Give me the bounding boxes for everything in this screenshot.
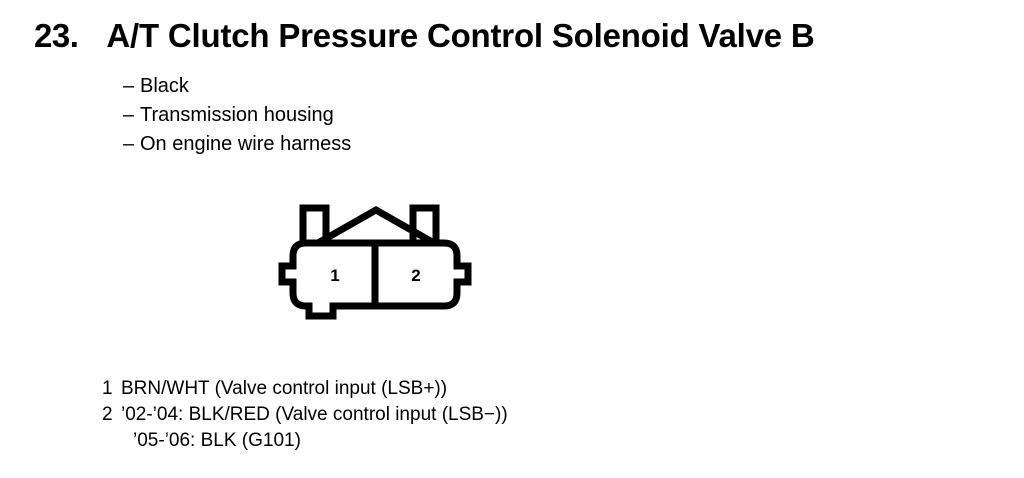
legend-pin-number: 1 [102,376,121,402]
attribute-location: Transmission housing [140,101,334,130]
list-item: – Transmission housing [123,101,351,130]
pin-legend-list: 1 BRN/WHT (Valve control input (LSB+)) 2… [102,376,508,454]
legend-row: 1 BRN/WHT (Valve control input (LSB+)) [102,376,508,402]
en-dash-bullet-icon: – [123,101,140,130]
connector-top-tab-left [303,208,326,244]
legend-pin-description-alt: ’05-’06: BLK (G101) [121,428,508,454]
legend-row: 2 ’02-’04: BLK/RED (Valve control input … [102,402,508,454]
attribute-color: Black [140,72,189,101]
connector-diagram: 1 2 [276,196,486,331]
connector-roof-rib [318,210,434,243]
page-title: A/T Clutch Pressure Control Solenoid Val… [106,19,814,52]
legend-text-column: ’02-’04: BLK/RED (Valve control input (L… [121,402,508,454]
list-item: – Black [123,72,351,101]
legend-text-column: BRN/WHT (Valve control input (LSB+)) [121,376,447,402]
attribute-harness: On engine wire harness [140,130,351,159]
cavity-label-1: 1 [330,266,339,285]
page-root: 23. A/T Clutch Pressure Control Solenoid… [0,0,1024,478]
legend-pin-description: BRN/WHT (Valve control input (LSB+)) [121,376,447,402]
en-dash-bullet-icon: – [123,130,140,159]
legend-pin-description: ’02-’04: BLK/RED (Valve control input (L… [121,402,508,428]
list-item: – On engine wire harness [123,130,351,159]
connector-attribute-list: – Black – Transmission housing – On engi… [123,72,351,159]
cavity-label-2: 2 [411,266,420,285]
en-dash-bullet-icon: – [123,72,140,101]
legend-pin-number: 2 [102,402,121,428]
section-heading: 23. A/T Clutch Pressure Control Solenoid… [34,19,815,52]
connector-outline-svg: 1 2 [276,196,486,331]
section-number: 23. [34,19,78,52]
